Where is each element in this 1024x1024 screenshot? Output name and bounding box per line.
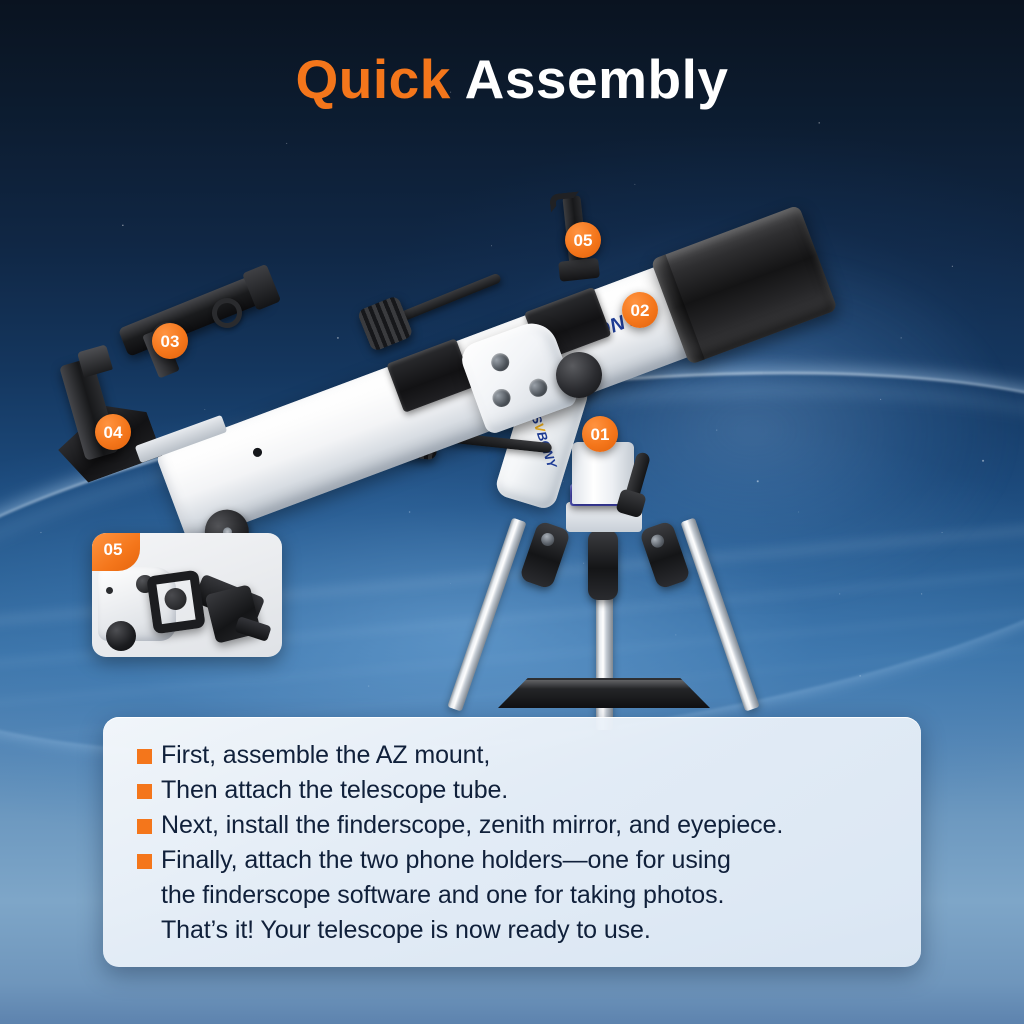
callout-badge-03[interactable]: 03	[152, 323, 188, 359]
mount-bolt	[527, 376, 550, 399]
product-infographic: Quick Assembly SVBONY SVBONY	[0, 0, 1024, 1024]
tripod-leg-left	[447, 518, 526, 712]
accessory-tray	[498, 678, 710, 708]
leg-clamp-center	[588, 530, 618, 600]
mount-bolt	[489, 351, 512, 374]
callout-badge-01[interactable]: 01	[582, 416, 618, 452]
instruction-text: Finally, attach the two phone holders—on…	[161, 844, 891, 877]
bullet-square	[137, 819, 152, 834]
instruction-text: That’s it! Your telescope is now ready t…	[161, 914, 891, 947]
instruction-text: Next, install the finderscope, zenith mi…	[161, 809, 891, 842]
inset-badge-05: 05	[92, 533, 140, 571]
instruction-text: First, assemble the AZ mount,	[161, 739, 891, 772]
instruction-line: Then attach the telescope tube.	[137, 774, 891, 807]
callout-badge-02[interactable]: 02	[622, 292, 658, 328]
bullet-square	[137, 784, 152, 799]
inset-screw	[106, 587, 113, 594]
clamp-foot	[558, 258, 600, 282]
instruction-line: Next, install the finderscope, zenith mi…	[137, 809, 891, 842]
clamp-pin	[649, 533, 666, 550]
mount-bolt	[490, 386, 513, 409]
callout-badge-05[interactable]: 05	[565, 222, 601, 258]
instruction-text: Then attach the telescope tube.	[161, 774, 891, 807]
inset-phone-holder	[146, 570, 206, 635]
bullet-square	[137, 749, 152, 764]
instruction-line: First, assemble the AZ mount,	[137, 739, 891, 772]
instructions-list: First, assemble the AZ mount, Then attac…	[137, 739, 891, 947]
callout-badge-04[interactable]: 04	[95, 414, 131, 450]
finderscope	[118, 273, 268, 357]
eyepiece	[77, 344, 113, 377]
phone-holder-inset-card[interactable]: 05	[92, 533, 282, 657]
instructions-panel: First, assemble the AZ mount, Then attac…	[103, 717, 921, 967]
bullet-square	[137, 854, 152, 869]
clamp-pin	[539, 531, 556, 548]
instruction-line: the finderscope software and one for tak…	[137, 879, 891, 912]
instruction-line: Finally, attach the two phone holders—on…	[137, 844, 891, 877]
leg-clamp-left	[519, 520, 571, 590]
slow-motion-knob	[357, 295, 414, 352]
instruction-text: the finderscope software and one for tak…	[161, 879, 891, 912]
tripod-leg-right	[680, 518, 759, 712]
inset-focus-knob	[106, 621, 136, 651]
instruction-line: That’s it! Your telescope is now ready t…	[137, 914, 891, 947]
slow-motion-control-altitude	[400, 273, 502, 322]
altitude-lock-knob	[556, 352, 602, 398]
clamp-hook	[549, 191, 581, 212]
